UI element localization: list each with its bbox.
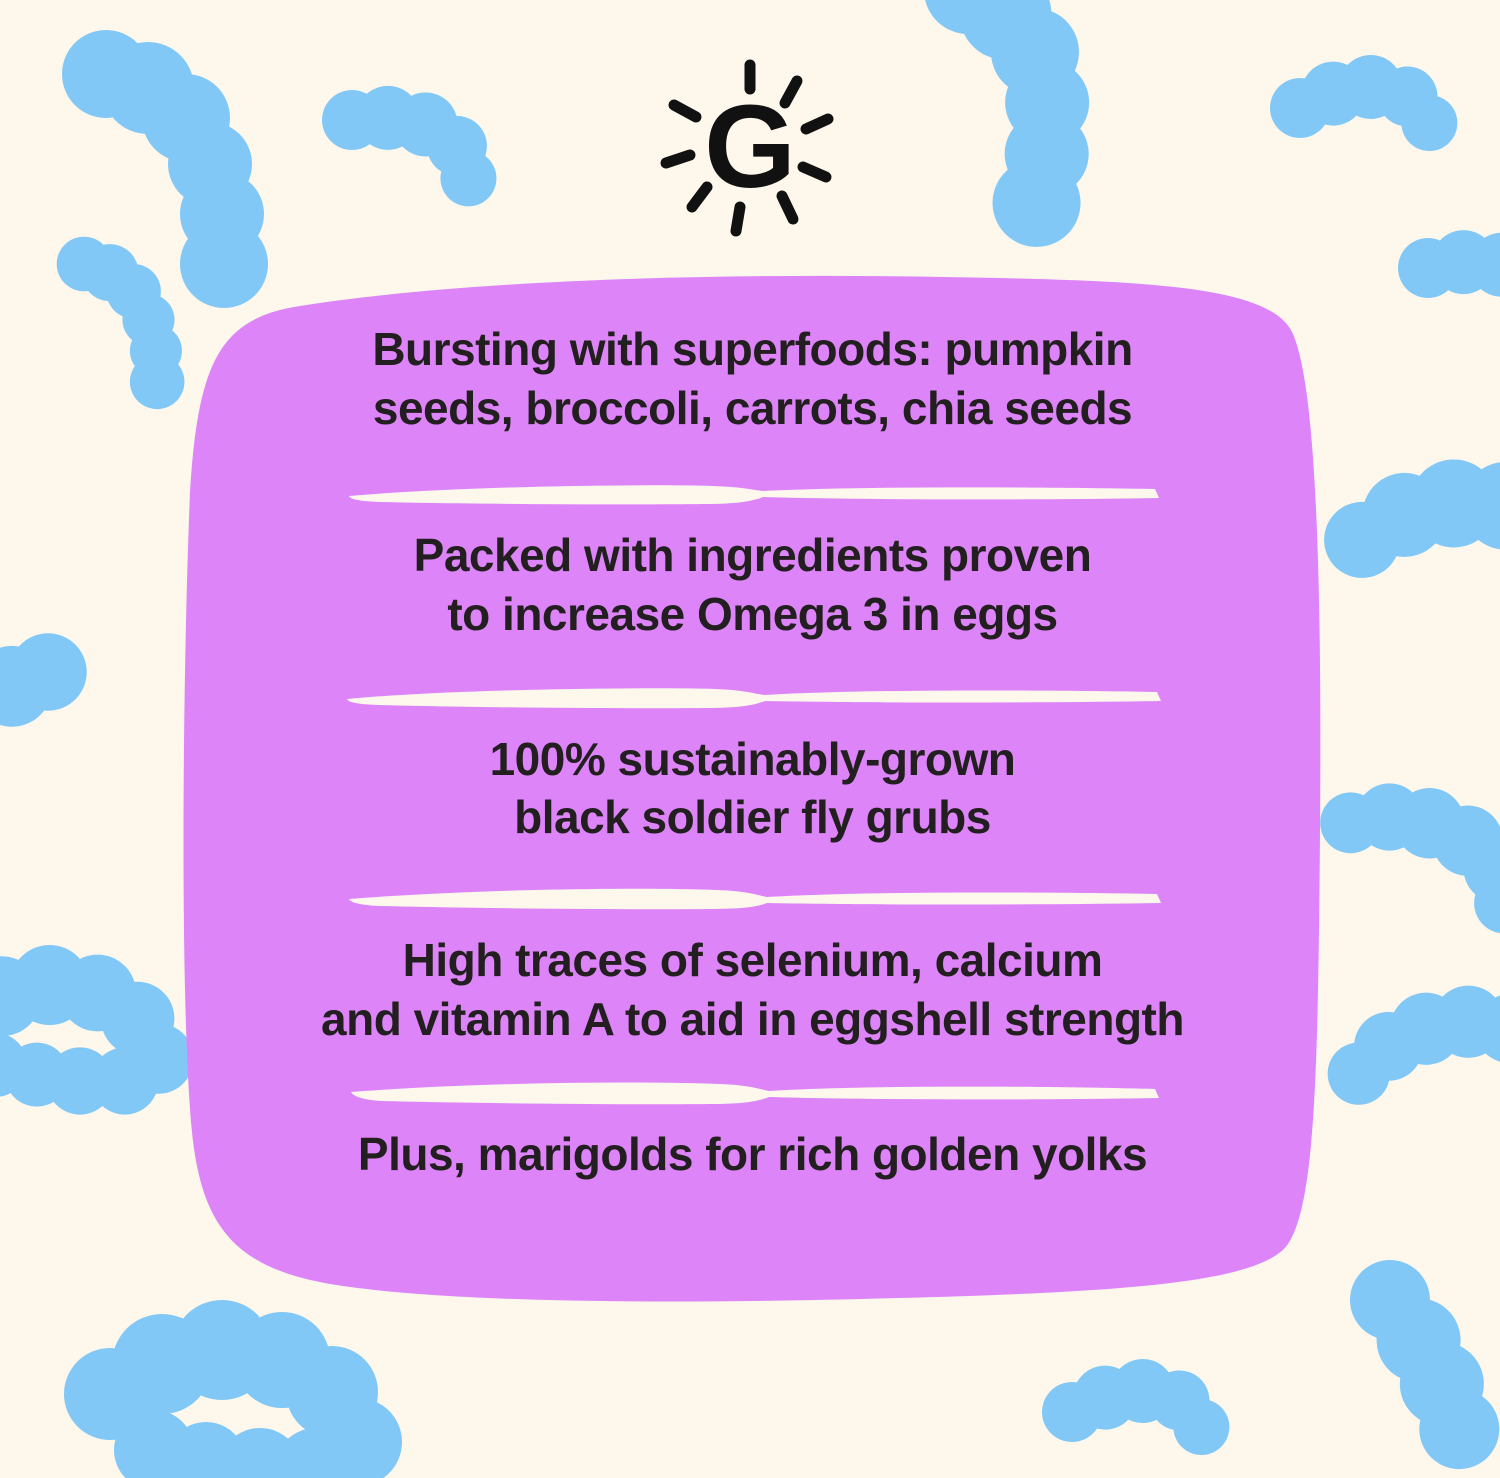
feature-item-eggshell-strength: High traces of selenium, calcium and vit… [218,931,1288,1049]
feature-card: Bursting with superfoods: pumpkin seeds,… [180,272,1325,1312]
grub-blob-mid-left [0,489,103,793]
feature-text-eggshell-strength: High traces of selenium, calcium and vit… [218,931,1288,1049]
sun-g-logo: G [650,55,850,240]
feature-text-omega-3: Packed with ingredients proven to increa… [218,526,1288,644]
grub-blob-mid-right [1319,449,1500,617]
grub-blob-right-lower [1303,757,1500,941]
grub-blob-top-right-small [1267,49,1460,162]
divider-1 [343,478,1163,512]
feature-item-marigolds: Plus, marigolds for rich golden yolks [218,1125,1288,1184]
logo-letter: G [704,81,796,213]
divider-4 [343,1077,1163,1111]
feature-list: Bursting with superfoods: pumpkin seeds,… [180,272,1325,1312]
feature-item-black-soldier-fly: 100% sustainably-grown black soldier fly… [218,730,1288,848]
poster-canvas: G Bursting with superfoods: pumpkin seed… [0,0,1500,1478]
grub-blob-bottom-center [1039,1353,1232,1466]
grub-blob-left-lower [0,945,194,1115]
divider-2 [343,682,1163,716]
grub-blob-right-bottom [1312,958,1500,1140]
feature-text-black-soldier-fly: 100% sustainably-grown black soldier fly… [218,730,1288,848]
divider-3 [343,883,1163,917]
feature-item-superfoods: Bursting with superfoods: pumpkin seeds,… [218,320,1288,438]
feature-text-marigolds: Plus, marigolds for rich golden yolks [218,1125,1288,1184]
grub-blob-bottom-right [1342,1243,1500,1478]
feature-text-superfoods: Bursting with superfoods: pumpkin seeds,… [218,320,1288,438]
grub-blob-top-left [62,30,268,308]
feature-item-omega-3: Packed with ingredients proven to increa… [218,526,1288,644]
grub-blob-top-left-small [309,66,515,213]
grub-blob-top-right [869,0,1136,256]
grub-blob-upper-right-edge [1389,216,1500,347]
grub-blob-upper-left-small [57,237,185,409]
grub-blob-bottom-left [64,1300,402,1478]
